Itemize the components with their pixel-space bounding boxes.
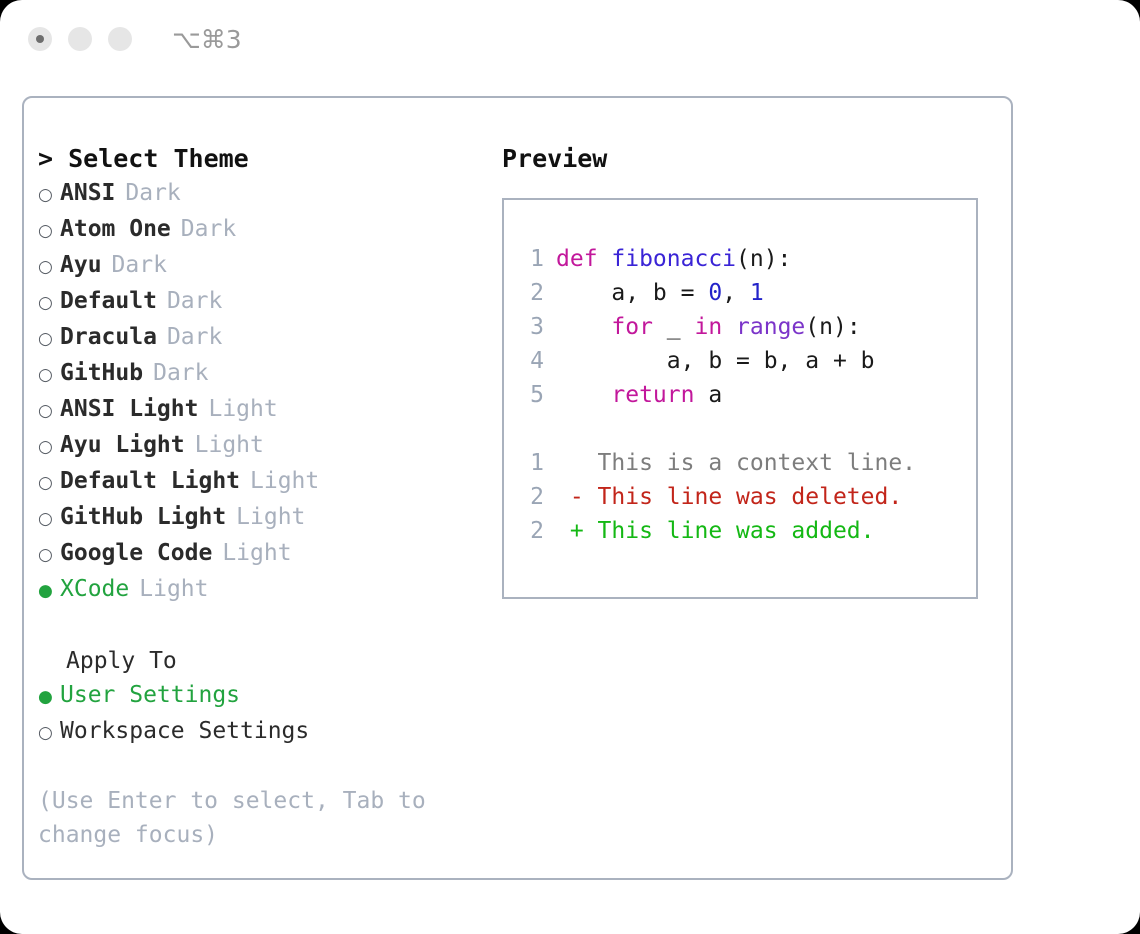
theme-option-default-light[interactable]: ○Default LightLight bbox=[38, 464, 478, 500]
theme-option-variant: Light bbox=[208, 392, 277, 426]
radio-unselected-icon: ○ bbox=[38, 214, 60, 248]
theme-option-variant: Light bbox=[195, 428, 264, 462]
radio-unselected-icon: ○ bbox=[38, 466, 60, 500]
code-token-pln bbox=[556, 382, 611, 408]
code-token-kw: for bbox=[611, 314, 653, 340]
theme-option-name: Dracula bbox=[60, 320, 157, 354]
theme-option-atom-one[interactable]: ○Atom OneDark bbox=[38, 212, 478, 248]
theme-option-variant: Dark bbox=[112, 248, 167, 282]
radio-unselected-icon: ○ bbox=[38, 502, 60, 536]
code-line: 5 return a bbox=[516, 378, 976, 412]
select-theme-heading: > Select Theme bbox=[38, 142, 478, 176]
radio-unselected-icon: ○ bbox=[38, 394, 60, 428]
code-token-kw: in bbox=[694, 314, 722, 340]
code-line: 4 a, b = b, a + b bbox=[516, 344, 976, 378]
radio-unselected-icon: ○ bbox=[38, 538, 60, 572]
code-line-number: 4 bbox=[516, 344, 544, 378]
diff-line-ctx: 1 This is a context line. bbox=[516, 446, 976, 480]
theme-selector-column: > Select Theme ○ANSIDark○Atom OneDark○Ay… bbox=[38, 142, 478, 852]
code-line-text: a, b = b, a + b bbox=[556, 344, 875, 378]
radio-unselected-icon: ○ bbox=[38, 430, 60, 464]
code-token-kw: return bbox=[611, 382, 694, 408]
theme-option-google-code[interactable]: ○Google CodeLight bbox=[38, 536, 478, 572]
theme-option-github-light[interactable]: ○GitHub LightLight bbox=[38, 500, 478, 536]
theme-option-variant: Light bbox=[139, 572, 208, 606]
code-token-pln: (n): bbox=[805, 314, 860, 340]
theme-option-variant: Dark bbox=[181, 212, 236, 246]
theme-option-ansi[interactable]: ○ANSIDark bbox=[38, 176, 478, 212]
theme-option-name: ANSI bbox=[60, 176, 115, 210]
code-token-num: 0 bbox=[708, 280, 722, 306]
main-panel: > Select Theme ○ANSIDark○Atom OneDark○Ay… bbox=[22, 96, 1013, 880]
theme-option-name: Atom One bbox=[60, 212, 171, 246]
theme-option-name: Default Light bbox=[60, 464, 240, 498]
diff-line-number: 1 bbox=[516, 446, 544, 480]
apply-to-option-name: Workspace Settings bbox=[60, 714, 309, 748]
code-token-pln: a, b = bbox=[556, 280, 708, 306]
diff-line-number: 2 bbox=[516, 480, 544, 514]
code-line-text: return a bbox=[556, 378, 722, 412]
code-line: 2 a, b = 0, 1 bbox=[516, 276, 976, 310]
diff-line-del: 2 - This line was deleted. bbox=[516, 480, 976, 514]
code-token-pln: _ bbox=[653, 314, 695, 340]
code-line-number: 1 bbox=[516, 242, 544, 276]
apply-to-option-user-settings[interactable]: ●User Settings bbox=[38, 678, 478, 714]
diff-line-text: This is a context line. bbox=[556, 446, 916, 480]
theme-option-github[interactable]: ○GitHubDark bbox=[38, 356, 478, 392]
theme-option-variant: Dark bbox=[153, 356, 208, 390]
theme-option-variant: Dark bbox=[167, 284, 222, 318]
radio-unselected-icon: ○ bbox=[38, 358, 60, 392]
window-dot-1-center bbox=[36, 35, 44, 43]
code-sample: 1def fibonacci(n):2 a, b = 0, 13 for _ i… bbox=[516, 242, 976, 412]
theme-option-name: Default bbox=[60, 284, 157, 318]
theme-option-ayu[interactable]: ○AyuDark bbox=[38, 248, 478, 284]
title-bar: ⌥⌘3 bbox=[0, 0, 1140, 78]
theme-option-dracula[interactable]: ○DraculaDark bbox=[38, 320, 478, 356]
code-token-num: 1 bbox=[750, 280, 764, 306]
keyboard-hint-text: (Use Enter to select, Tab to change focu… bbox=[38, 784, 448, 852]
code-token-kw: def bbox=[556, 246, 611, 272]
code-token-pln bbox=[722, 314, 736, 340]
radio-unselected-icon: ○ bbox=[38, 322, 60, 356]
theme-option-xcode[interactable]: ●XCodeLight bbox=[38, 572, 478, 608]
diff-line-text: - This line was deleted. bbox=[556, 480, 902, 514]
window-dot-3[interactable] bbox=[108, 27, 132, 51]
apply-to-list: ●User Settings○Workspace Settings bbox=[38, 678, 478, 750]
theme-option-default[interactable]: ○DefaultDark bbox=[38, 284, 478, 320]
radio-unselected-icon: ○ bbox=[38, 286, 60, 320]
preview-column: Preview 1def fibonacci(n):2 a, b = 0, 13… bbox=[502, 142, 992, 599]
theme-option-variant: Light bbox=[222, 536, 291, 570]
code-token-pln bbox=[556, 314, 611, 340]
code-line-text: def fibonacci(n): bbox=[556, 242, 791, 276]
theme-list: ○ANSIDark○Atom OneDark○AyuDark○DefaultDa… bbox=[38, 176, 478, 608]
theme-option-variant: Light bbox=[236, 500, 305, 534]
radio-unselected-icon: ○ bbox=[38, 250, 60, 284]
code-line: 1def fibonacci(n): bbox=[516, 242, 976, 276]
code-token-call: range bbox=[736, 314, 805, 340]
diff-line-text: + This line was added. bbox=[556, 514, 875, 548]
apply-to-heading: Apply To bbox=[66, 644, 478, 678]
apply-to-option-name: User Settings bbox=[60, 678, 240, 712]
theme-option-name: Ayu Light bbox=[60, 428, 185, 462]
theme-option-name: XCode bbox=[60, 572, 129, 606]
keyboard-shortcut-label: ⌥⌘3 bbox=[172, 25, 242, 54]
radio-unselected-icon: ○ bbox=[38, 716, 60, 750]
window-dot-2[interactable] bbox=[68, 27, 92, 51]
code-token-pln: a bbox=[694, 382, 722, 408]
code-token-pln: , bbox=[722, 280, 750, 306]
theme-option-variant: Light bbox=[250, 464, 319, 498]
theme-option-name: GitHub Light bbox=[60, 500, 226, 534]
theme-option-name: Ayu bbox=[60, 248, 102, 282]
code-line-number: 2 bbox=[516, 276, 544, 310]
preview-box: 1def fibonacci(n):2 a, b = 0, 13 for _ i… bbox=[502, 198, 978, 599]
code-diff-separator bbox=[516, 412, 976, 446]
code-token-fn: fibonacci bbox=[611, 246, 736, 272]
preview-heading: Preview bbox=[502, 142, 992, 176]
apply-to-option-workspace-settings[interactable]: ○Workspace Settings bbox=[38, 714, 478, 750]
code-token-pln: (n): bbox=[736, 246, 791, 272]
code-line-text: for _ in range(n): bbox=[556, 310, 861, 344]
radio-selected-icon: ● bbox=[38, 574, 60, 608]
theme-option-ayu-light[interactable]: ○Ayu LightLight bbox=[38, 428, 478, 464]
theme-option-name: GitHub bbox=[60, 356, 143, 390]
code-token-pln: a, b = b, a + b bbox=[556, 348, 875, 374]
code-line-number: 3 bbox=[516, 310, 544, 344]
code-line: 3 for _ in range(n): bbox=[516, 310, 976, 344]
code-line-text: a, b = 0, 1 bbox=[556, 276, 764, 310]
diff-sample: 1 This is a context line.2 - This line w… bbox=[516, 446, 976, 548]
app-window: ⌥⌘3 > Select Theme ○ANSIDark○Atom OneDar… bbox=[0, 0, 1140, 934]
theme-option-variant: Dark bbox=[125, 176, 180, 210]
theme-option-variant: Dark bbox=[167, 320, 222, 354]
theme-option-name: Google Code bbox=[60, 536, 212, 570]
theme-option-ansi-light[interactable]: ○ANSI LightLight bbox=[38, 392, 478, 428]
radio-selected-icon: ● bbox=[38, 680, 60, 714]
window-dot-1[interactable] bbox=[28, 27, 52, 51]
diff-line-number: 2 bbox=[516, 514, 544, 548]
code-line-number: 5 bbox=[516, 378, 544, 412]
diff-line-add: 2 + This line was added. bbox=[516, 514, 976, 548]
radio-unselected-icon: ○ bbox=[38, 178, 60, 212]
theme-option-name: ANSI Light bbox=[60, 392, 198, 426]
